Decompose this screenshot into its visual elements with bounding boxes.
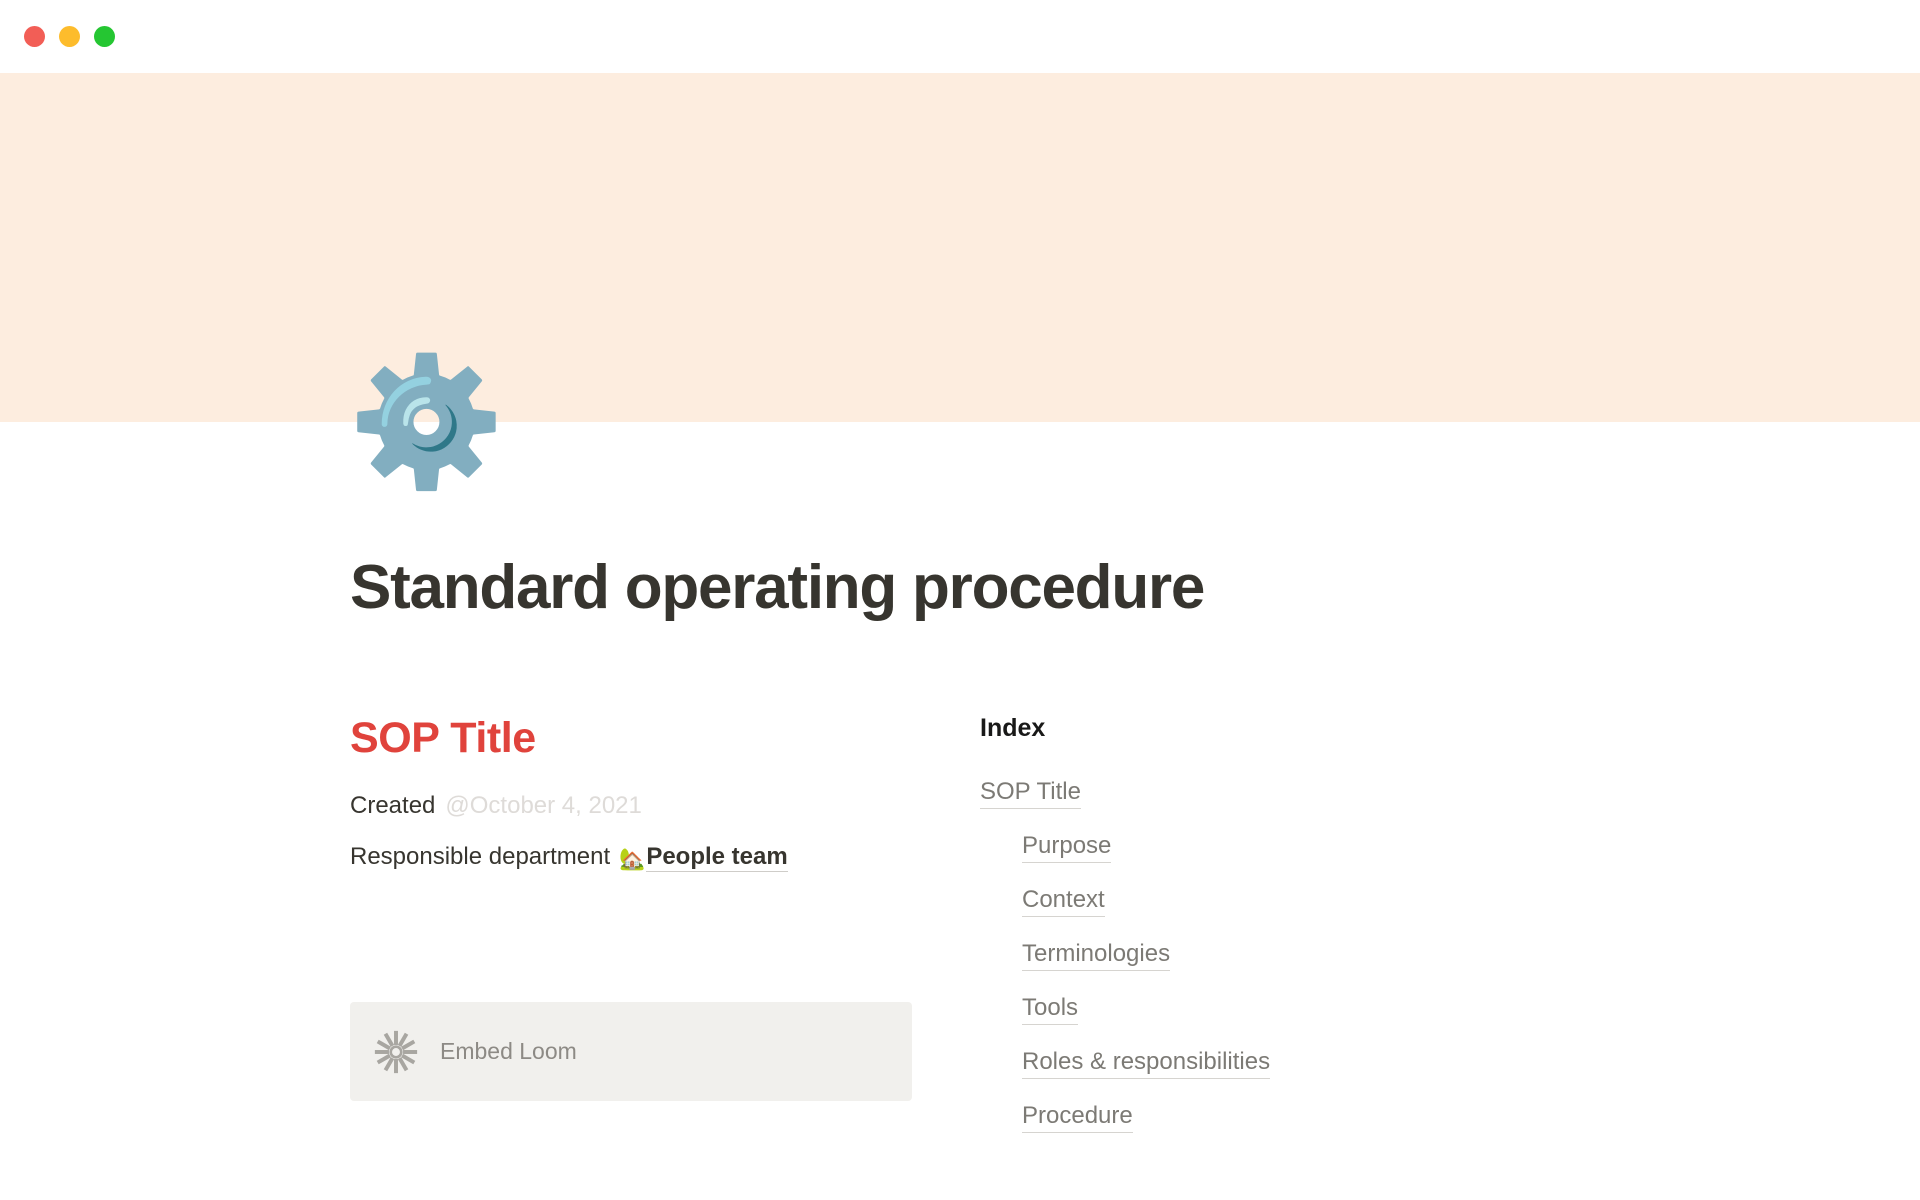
department-property-row: Responsible department🏡People team	[350, 840, 940, 875]
window-titlebar	[0, 0, 1920, 73]
embed-loom-block[interactable]: Embed Loom	[350, 1002, 912, 1101]
table-of-contents: SOP Title Purpose Context Terminologies …	[980, 777, 1555, 1133]
minimize-window-button[interactable]	[59, 26, 80, 47]
loom-icon	[374, 1030, 418, 1074]
house-with-garden-emoji-icon: 🏡	[619, 848, 645, 871]
created-property-row: Created@October 4, 2021	[350, 789, 940, 824]
created-date-value[interactable]: @October 4, 2021	[445, 792, 641, 819]
people-team-page-link[interactable]: People team	[646, 843, 787, 872]
toc-item: Terminologies	[1022, 939, 1555, 971]
maximize-window-button[interactable]	[94, 26, 115, 47]
index-heading: Index	[980, 713, 1555, 743]
left-column: SOP Title Created@October 4, 2021 Respon…	[350, 713, 940, 892]
toc-item: Context	[1022, 885, 1555, 917]
window-controls	[24, 26, 115, 47]
page-body: ⚙️ Standard operating procedure SOP Titl…	[0, 73, 1920, 1200]
toc-link-procedure[interactable]: Procedure	[1022, 1101, 1133, 1133]
created-label: Created	[350, 792, 435, 819]
toc-link-tools[interactable]: Tools	[1022, 993, 1078, 1025]
toc-item: Purpose	[1022, 831, 1555, 863]
toc-item: Roles & responsibilities	[1022, 1047, 1555, 1079]
app-window: ⚙️ Standard operating procedure SOP Titl…	[0, 0, 1920, 1200]
sop-title-heading[interactable]: SOP Title	[350, 713, 940, 765]
toc-link-terminologies[interactable]: Terminologies	[1022, 939, 1170, 971]
toc-item: Procedure	[1022, 1101, 1555, 1133]
toc-item: Tools	[1022, 993, 1555, 1025]
close-window-button[interactable]	[24, 26, 45, 47]
toc-link-sop-title[interactable]: SOP Title	[980, 777, 1081, 809]
right-column: Index SOP Title Purpose Context Terminol…	[940, 713, 1555, 1133]
toc-link-roles-responsibilities[interactable]: Roles & responsibilities	[1022, 1047, 1270, 1079]
toc-link-context[interactable]: Context	[1022, 885, 1105, 917]
toc-item: SOP Title	[980, 777, 1555, 809]
gear-emoji-icon[interactable]: ⚙️	[348, 353, 486, 491]
page-title[interactable]: Standard operating procedure	[350, 554, 1204, 622]
department-label: Responsible department	[350, 843, 610, 870]
toc-link-purpose[interactable]: Purpose	[1022, 831, 1111, 863]
embed-loom-label: Embed Loom	[440, 1038, 577, 1065]
